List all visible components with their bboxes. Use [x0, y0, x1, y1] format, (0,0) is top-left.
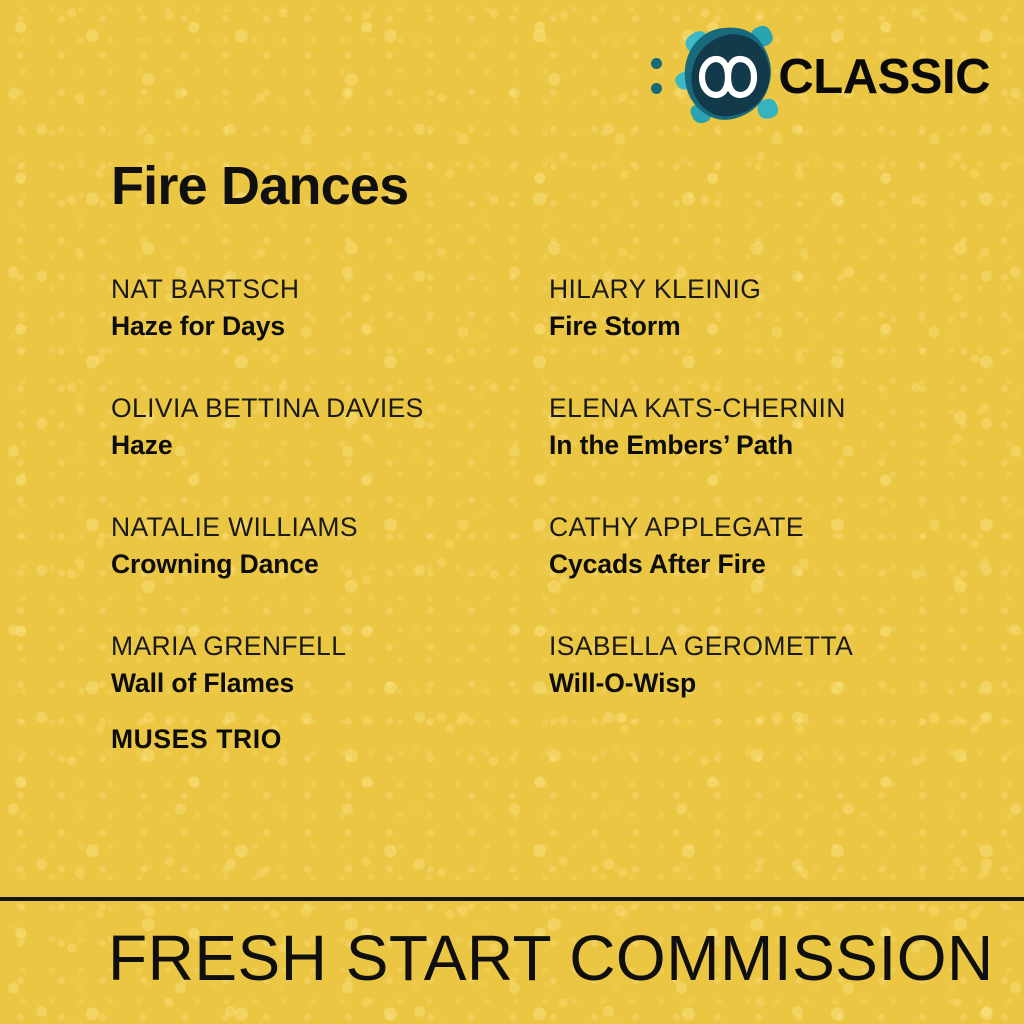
- composer-name: MARIA GRENFELL: [111, 633, 549, 660]
- footer-headline: FRESH START COMMISSION: [108, 922, 994, 996]
- work-title: Haze: [111, 432, 549, 459]
- composer-name: OLIVIA BETTINA DAVIES: [111, 395, 549, 422]
- work-title: In the Embers’ Path: [549, 432, 923, 459]
- composer-name: NATALIE WILLIAMS: [111, 514, 549, 541]
- poster-canvas: CLASSIC Fire Dances NAT BARTSCH Haze for…: [0, 0, 1024, 1024]
- work-title: Cycads After Fire: [549, 551, 923, 578]
- track-item: NAT BARTSCH Haze for Days: [111, 276, 549, 339]
- track-item: NATALIE WILLIAMS Crowning Dance: [111, 514, 549, 577]
- colon-dots-icon: [648, 49, 666, 105]
- page-title: Fire Dances: [111, 158, 408, 215]
- work-title: Wall of Flames: [111, 670, 549, 697]
- track-item: ISABELLA GEROMETTA Will-O-Wisp: [549, 633, 923, 696]
- composer-name: ISABELLA GEROMETTA: [549, 633, 923, 660]
- composer-name: CATHY APPLEGATE: [549, 514, 923, 541]
- track-list: NAT BARTSCH Haze for Days HILARY KLEINIG…: [111, 276, 923, 696]
- composer-name: ELENA KATS-CHERNIN: [549, 395, 923, 422]
- abc-classic-wordmark: CLASSIC: [778, 53, 990, 102]
- track-item: CATHY APPLEGATE Cycads After Fire: [549, 514, 923, 577]
- work-title: Crowning Dance: [111, 551, 549, 578]
- work-title: Fire Storm: [549, 313, 923, 340]
- abc-lissajous-logo-icon: [672, 22, 780, 132]
- footer-divider: [0, 897, 1024, 901]
- track-item: ELENA KATS-CHERNIN In the Embers’ Path: [549, 395, 923, 458]
- work-title: Will-O-Wisp: [549, 670, 923, 697]
- track-item: HILARY KLEINIG Fire Storm: [549, 276, 923, 339]
- composer-name: HILARY KLEINIG: [549, 276, 923, 303]
- ensemble-credit: MUSES TRIO: [111, 724, 282, 755]
- abc-classic-logo[interactable]: CLASSIC: [648, 22, 990, 132]
- track-item: MARIA GRENFELL Wall of Flames: [111, 633, 549, 696]
- work-title: Haze for Days: [111, 313, 549, 340]
- track-item: OLIVIA BETTINA DAVIES Haze: [111, 395, 549, 458]
- composer-name: NAT BARTSCH: [111, 276, 549, 303]
